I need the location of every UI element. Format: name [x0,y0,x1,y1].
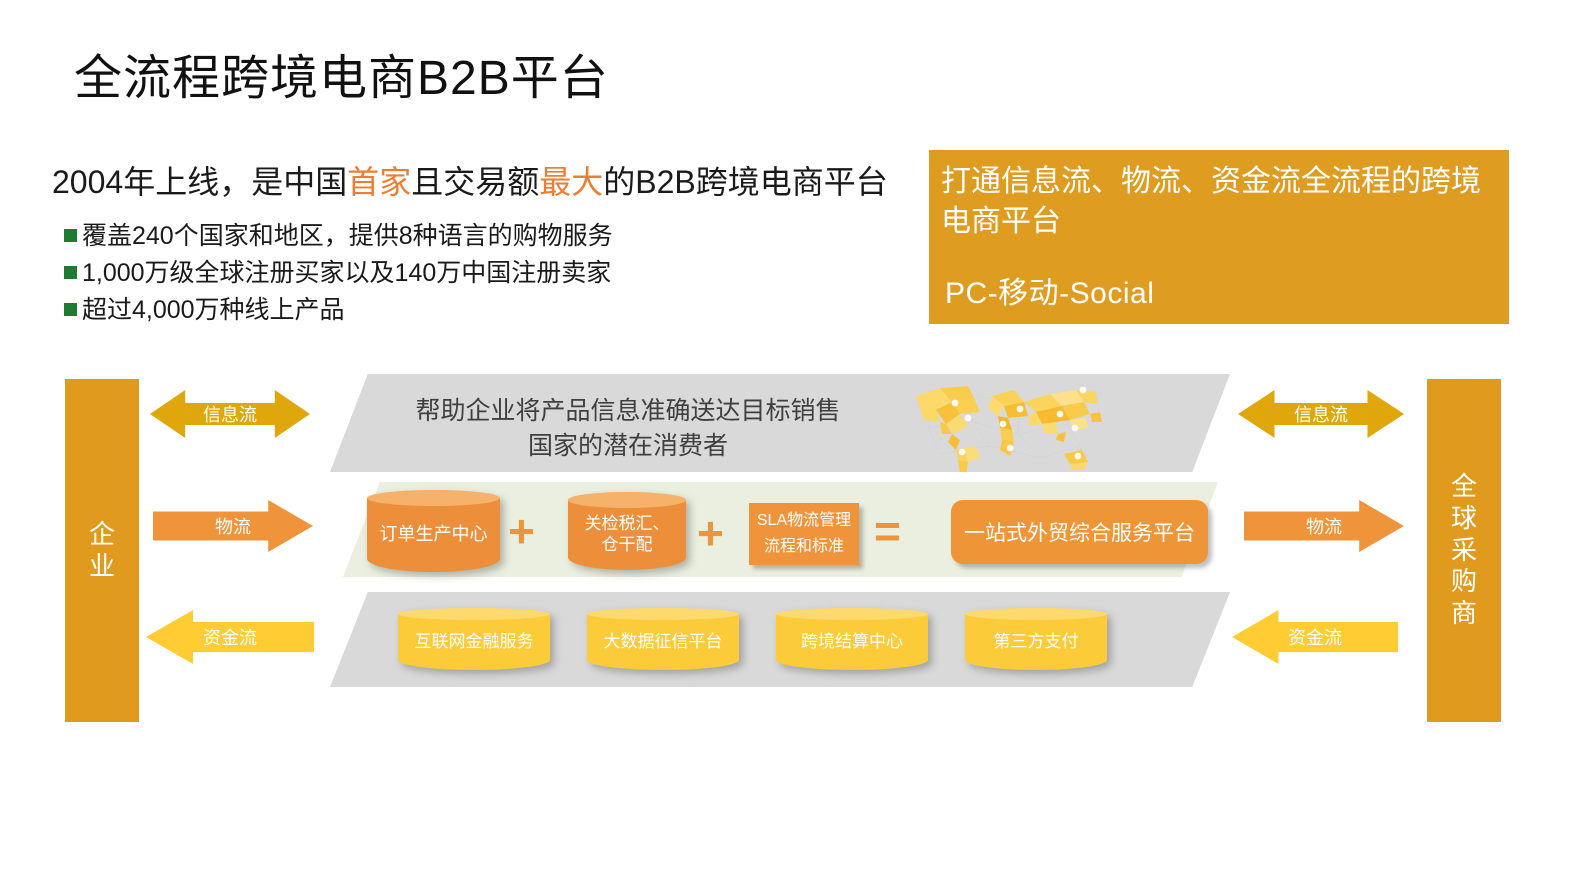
operator-plus-2: + [697,510,724,556]
bullet-text: 覆盖240个国家和地区，提供8种语言的购物服务 [82,220,613,253]
arrow-capital-flow-left: 资金流 [146,610,314,664]
bullet-text: 1,000万级全球注册买家以及140万中国注册卖家 [82,257,611,290]
entity-enterprise: 企业 [65,379,139,722]
lead-part-3: 的B2B跨境电商平台 [603,164,888,200]
lead-highlight-largest: 最大 [539,164,603,200]
list-item: 1,000万级全球注册买家以及140万中国注册卖家 [64,257,704,290]
box-sla-line-2: 流程和标准 [764,534,844,560]
entity-global-buyers-label: 全球采购商 [1448,471,1479,630]
arrow-capital-flow-right: 资金流 [1232,610,1398,664]
arrow-logistics-flow-right: 物流 [1244,500,1404,552]
lead-highlight-first: 首家 [347,164,411,200]
entity-global-buyers: 全球采购商 [1427,379,1501,722]
band-information-line-2: 国家的潜在消费者 [408,429,848,464]
cylinder-customs-line-2: 仓干配 [602,535,653,554]
square-bullet-icon [64,266,77,279]
box-sla-standards: SLA物流管理 流程和标准 [749,503,859,565]
cylinder-third-party-payment-label: 第三方支付 [994,625,1079,652]
callout-box: 打通信息流、物流、资金流全流程的跨境电商平台 PC-移动-Social [929,150,1509,324]
arrow-information-flow-right-label: 信息流 [1294,401,1348,427]
square-bullet-icon [64,303,77,316]
arrow-capital-flow-left-label: 资金流 [203,624,257,650]
world-map-icon [900,376,1110,484]
cylinder-customs-line-1: 关检税汇、 [585,514,670,533]
box-sla-line-1: SLA物流管理 [757,508,851,534]
callout-sub-text: PC-移动-Social [945,268,1154,312]
arrow-information-flow-left-label: 信息流 [203,401,257,427]
band-information-line-1: 帮助企业将产品信息准确送达目标销售 [408,394,848,429]
slide-canvas: 全流程跨境电商B2B平台 2004年上线，是中国首家且交易额最大的B2B跨境电商… [0,0,1587,893]
lead-paragraph: 2004年上线，是中国首家且交易额最大的B2B跨境电商平台 [52,157,888,203]
cylinder-cross-border-settlement-label: 跨境结算中心 [801,625,903,652]
cylinder-order-center: 订单生产中心 [367,490,500,572]
cylinder-internet-finance-label: 互联网金融服务 [415,625,534,652]
arrow-information-flow-left: 信息流 [150,390,310,438]
arrow-logistics-flow-left-label: 物流 [215,513,251,539]
page-title: 全流程跨境电商B2B平台 [74,38,609,108]
cylinder-third-party-payment: 第三方支付 [965,608,1107,670]
cylinder-bigdata-credit-label: 大数据征信平台 [604,625,723,652]
cylinder-internet-finance: 互联网金融服务 [398,608,550,670]
cylinder-top [568,492,686,508]
arrow-capital-flow-right-label: 资金流 [1288,624,1342,650]
list-item: 覆盖240个国家和地区，提供8种语言的购物服务 [64,220,704,253]
cylinder-bigdata-credit: 大数据征信平台 [587,608,739,670]
lead-part-1: 2004年上线，是中国 [52,164,347,200]
band-information-text: 帮助企业将产品信息准确送达目标销售 国家的潜在消费者 [408,394,848,463]
bullet-text: 超过4,000万种线上产品 [82,294,345,327]
box-one-stop-platform-label: 一站式外贸综合服务平台 [964,517,1195,547]
box-one-stop-platform: 一站式外贸综合服务平台 [951,500,1208,564]
lead-part-2: 且交易额 [411,164,539,200]
bullet-list: 覆盖240个国家和地区，提供8种语言的购物服务 1,000万级全球注册买家以及1… [64,220,704,331]
cylinder-customs-label: 关检税汇、 仓干配 [585,507,670,556]
cylinder-order-center-label: 订单生产中心 [380,517,488,546]
square-bullet-icon [64,229,77,242]
flow-diagram: 企业 全球采购商 帮助企业将产品信息准确送达目标销售 国家的潜在消费者 [0,360,1587,760]
entity-enterprise-label: 企业 [86,519,117,582]
cylinder-customs: 关检税汇、 仓干配 [568,492,686,570]
operator-plus-1: + [508,508,535,554]
cylinder-cross-border-settlement: 跨境结算中心 [776,608,928,670]
band-information-flow: 帮助企业将产品信息准确送达目标销售 国家的潜在消费者 [330,374,1230,472]
operator-equals: = [874,508,901,554]
list-item: 超过4,000万种线上产品 [64,294,704,327]
arrow-logistics-flow-right-label: 物流 [1306,513,1342,539]
arrow-information-flow-right: 信息流 [1238,390,1404,438]
arrow-logistics-flow-left: 物流 [153,500,313,552]
callout-main-text: 打通信息流、物流、资金流全流程的跨境电商平台 [941,162,1499,241]
